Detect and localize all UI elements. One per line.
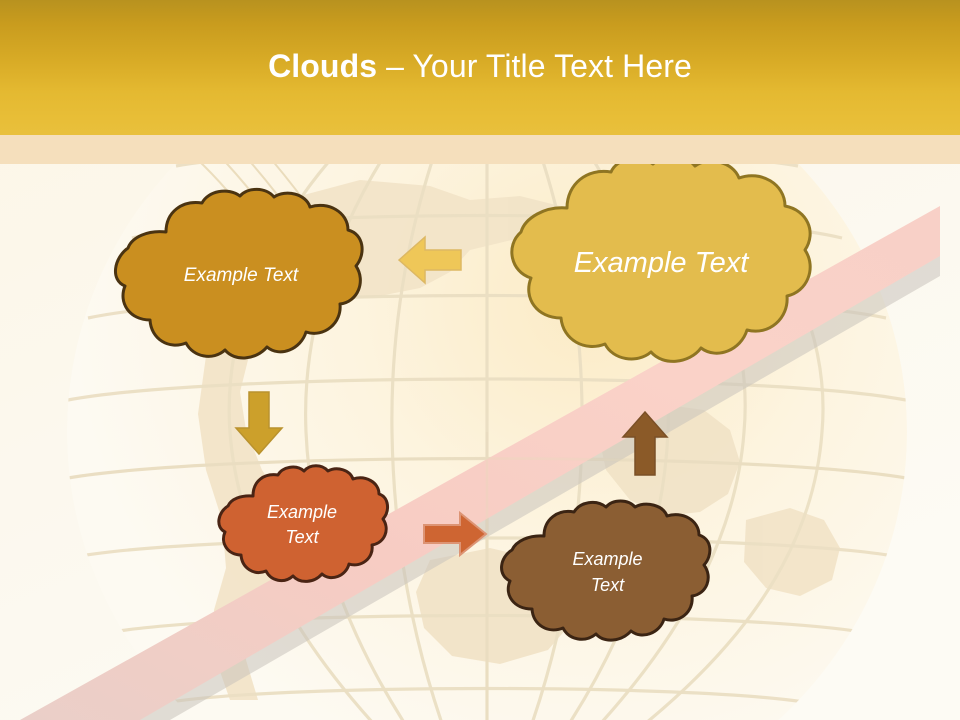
arrow-right-icon — [424, 511, 486, 557]
title-bar: Clouds – Your Title Text Here — [0, 0, 960, 135]
cloud-shape-large[interactable]: Example Text — [505, 160, 817, 365]
arrow-left-icon — [399, 234, 461, 286]
slide-canvas: Example Text Example Text Example Text E… — [0, 0, 960, 720]
page-title-rest: – Your Title Text Here — [386, 48, 692, 84]
arrow-up-icon — [622, 412, 668, 475]
page-title-bold: Clouds — [268, 48, 386, 84]
page-title: Clouds – Your Title Text Here — [0, 46, 960, 86]
cloud-shape-brown[interactable]: Example Text — [502, 503, 713, 640]
arrow-down-icon — [233, 392, 285, 454]
header-accent-band — [0, 135, 960, 164]
cloud-shape-orange[interactable]: Example Text — [219, 468, 385, 582]
cloud-shape-amber[interactable]: Example Text — [116, 192, 366, 360]
